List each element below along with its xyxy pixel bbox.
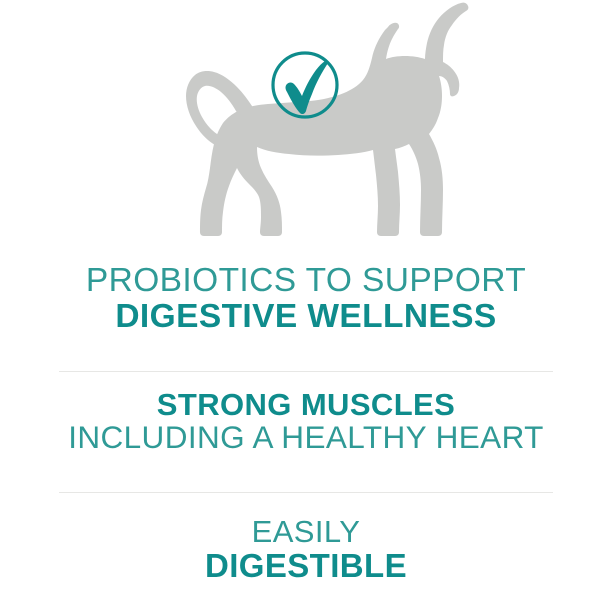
benefit-digestive-line1: PROBIOTICS TO SUPPORT xyxy=(0,263,612,299)
benefit-item-digestible: EASILY DIGESTIBLE xyxy=(0,493,612,583)
dog-silhouette-icon xyxy=(186,3,468,236)
check-circle-icon xyxy=(273,53,337,117)
hero-illustration xyxy=(0,0,612,250)
benefit-digestible-line1: EASILY xyxy=(0,515,612,548)
benefit-digestive-line2: DIGESTIVE WELLNESS xyxy=(0,299,612,335)
benefit-muscles-line1: STRONG MUSCLES xyxy=(0,388,612,421)
benefit-muscles-line2: INCLUDING A HEALTHY HEART xyxy=(0,421,612,455)
benefit-digestible-line2: DIGESTIBLE xyxy=(0,548,612,583)
benefit-item-digestive: PROBIOTICS TO SUPPORT DIGESTIVE WELLNESS xyxy=(0,250,612,335)
product-benefits-panel: PROBIOTICS TO SUPPORT DIGESTIVE WELLNESS… xyxy=(0,0,612,612)
benefit-item-muscles: STRONG MUSCLES INCLUDING A HEALTHY HEART xyxy=(0,372,612,455)
benefits-list: PROBIOTICS TO SUPPORT DIGESTIVE WELLNESS… xyxy=(0,250,612,583)
